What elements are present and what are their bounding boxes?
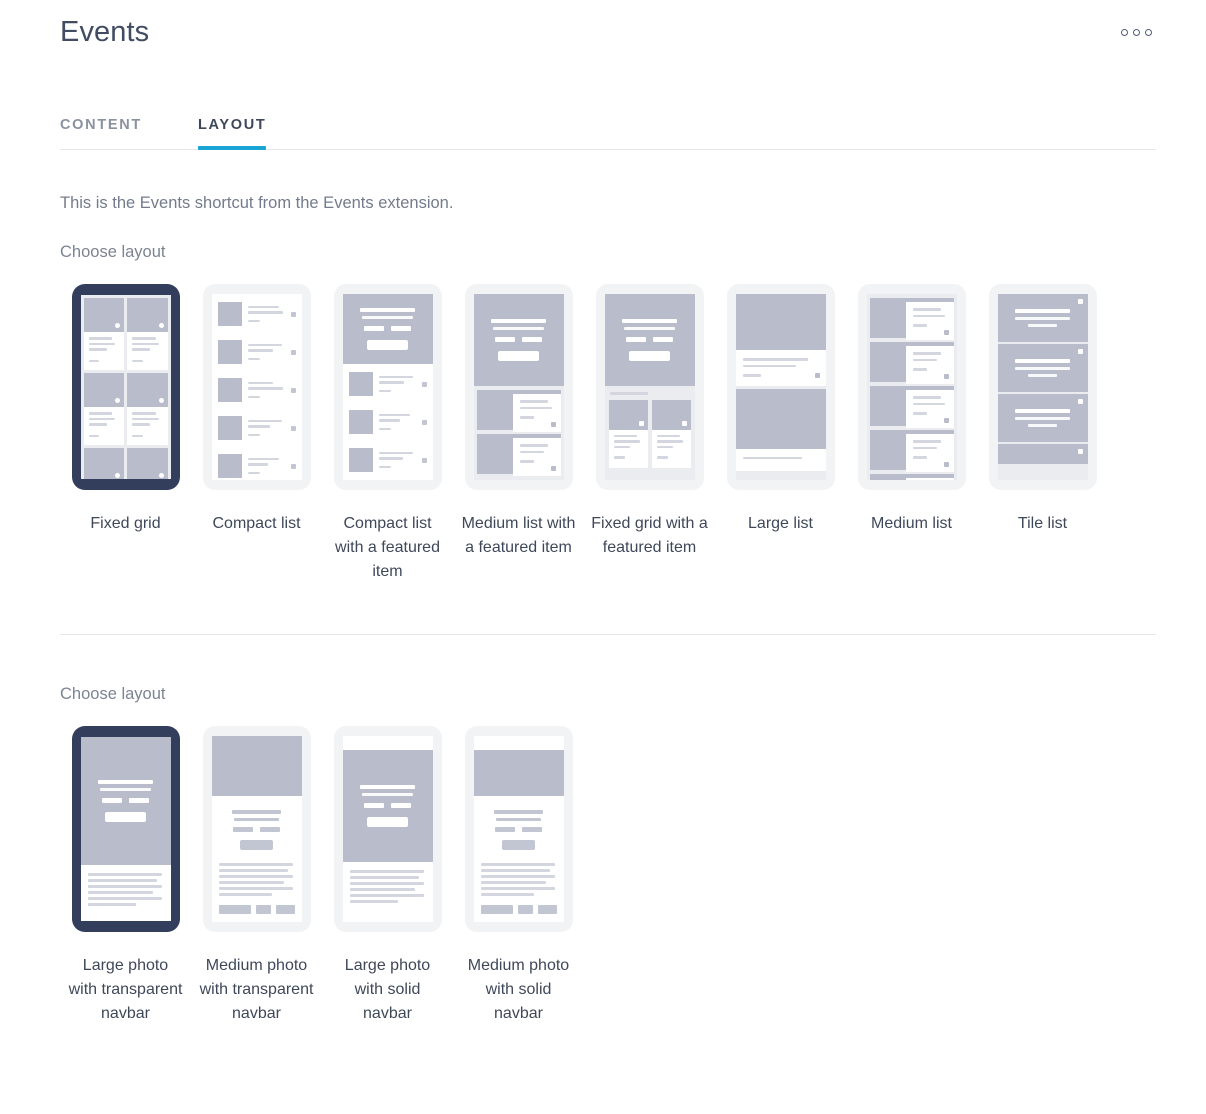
overflow-dot xyxy=(1145,29,1152,36)
layout-thumbnail-fixed-grid-featured xyxy=(596,284,704,490)
layout-thumbnail-large-list xyxy=(727,284,835,490)
tab-content[interactable]: CONTENT xyxy=(60,117,142,149)
page-title: Events xyxy=(60,18,149,47)
layout-option-label: Tile list xyxy=(984,512,1102,536)
layout-option-label: Large photo with solid navbar xyxy=(329,954,447,1026)
layout-option-label: Fixed grid with a featured item xyxy=(591,512,709,560)
layout-option-fixed-grid[interactable]: Fixed grid xyxy=(60,284,191,536)
page-content-2: Choose layout xyxy=(0,685,1206,1026)
layout-option-label: Fixed grid xyxy=(67,512,185,536)
layout-option-label: Medium photo with solid navbar xyxy=(460,954,578,1026)
layout-option-label: Medium list xyxy=(853,512,971,536)
layout-option-label: Large list xyxy=(722,512,840,536)
layout-thumbnail-medium-list xyxy=(858,284,966,490)
layout-option-label: Compact list xyxy=(198,512,316,536)
section-divider xyxy=(60,634,1156,635)
layout-thumbnail-fixed-grid xyxy=(72,284,180,490)
tab-layout-label: LAYOUT xyxy=(198,117,266,133)
tab-layout[interactable]: LAYOUT xyxy=(198,117,266,149)
layout-option-medium-photo-solid-navbar[interactable]: Medium photo with solid navbar xyxy=(453,726,584,1026)
page-content: This is the Events shortcut from the Eve… xyxy=(0,192,1206,584)
layout-option-large-photo-solid-navbar[interactable]: Large photo with solid navbar xyxy=(322,726,453,1026)
layout-option-label: Medium photo with transparent navbar xyxy=(198,954,316,1026)
layout-option-large-photo-transparent-navbar[interactable]: Large photo with transparent navbar xyxy=(60,726,191,1026)
solid-navbar xyxy=(474,736,564,750)
layout-option-label: Medium list with a featured item xyxy=(460,512,578,560)
more-horizontal-icon[interactable] xyxy=(1117,23,1156,42)
layout-thumbnail-large-photo-transparent-navbar xyxy=(72,726,180,932)
page-header: Events xyxy=(0,0,1206,64)
layout-option-label: Large photo with transparent navbar xyxy=(67,954,185,1026)
shortcut-description: This is the Events shortcut from the Eve… xyxy=(60,192,1156,215)
layout-option-large-list[interactable]: Large list xyxy=(715,284,846,536)
layout-option-label: Compact list with a featured item xyxy=(329,512,447,584)
solid-navbar xyxy=(343,736,433,750)
overflow-dot xyxy=(1121,29,1128,36)
layout-choices-list-2: Large photo with transparent navbar xyxy=(60,726,1156,1026)
layout-choices-list-1: Fixed grid xyxy=(60,284,1156,584)
tab-active-underline xyxy=(198,146,266,150)
layout-option-compact-list[interactable]: Compact list xyxy=(191,284,322,536)
layout-thumbnail-compact-list xyxy=(203,284,311,490)
layout-thumbnail-medium-photo-transparent-navbar xyxy=(203,726,311,932)
layout-thumbnail-medium-list-featured xyxy=(465,284,573,490)
events-layout-page: Events CONTENT LAYOUT This is the Events… xyxy=(0,0,1206,1114)
layout-option-medium-list[interactable]: Medium list xyxy=(846,284,977,536)
layout-thumbnail-large-photo-solid-navbar xyxy=(334,726,442,932)
layout-option-tile-list[interactable]: Tile list xyxy=(977,284,1108,536)
choose-layout-label-2: Choose layout xyxy=(60,685,1156,704)
choose-layout-label-1: Choose layout xyxy=(60,243,1156,262)
overflow-dot xyxy=(1133,29,1140,36)
tab-bar: CONTENT LAYOUT xyxy=(60,104,1156,150)
layout-option-medium-photo-transparent-navbar[interactable]: Medium photo with transparent navbar xyxy=(191,726,322,1026)
layout-thumbnail-medium-photo-solid-navbar xyxy=(465,726,573,932)
layout-option-compact-list-featured[interactable]: Compact list with a featured item xyxy=(322,284,453,584)
layout-option-fixed-grid-featured[interactable]: Fixed grid with a featured item xyxy=(584,284,715,560)
layout-option-medium-list-featured[interactable]: Medium list with a featured item xyxy=(453,284,584,560)
layout-thumbnail-compact-list-featured xyxy=(334,284,442,490)
layout-thumbnail-tile-list xyxy=(989,284,1097,490)
